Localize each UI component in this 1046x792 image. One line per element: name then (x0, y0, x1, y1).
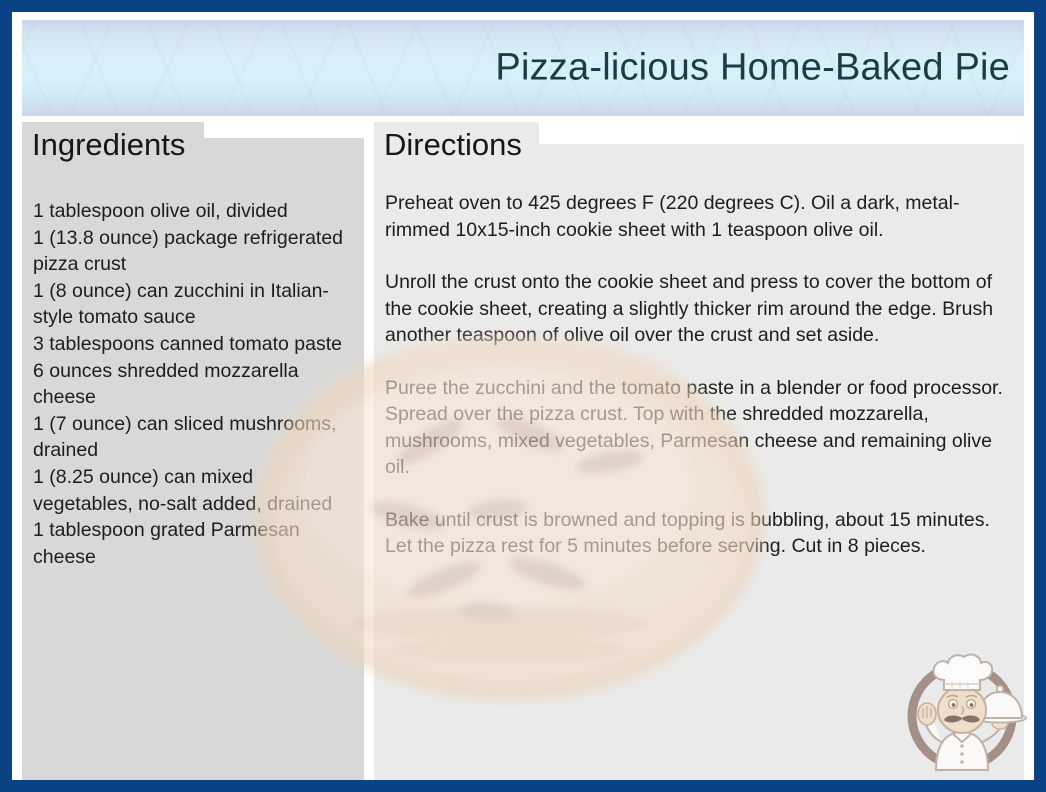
list-item: 1 (8 ounce) can zucchini in Italian-styl… (33, 278, 350, 331)
title-banner: Pizza-licious Home-Baked Pie (22, 20, 1024, 116)
ingredients-header-tab: Ingredients (22, 122, 203, 166)
directions-panel: Directions Preheat oven to 425 degrees F… (374, 122, 1024, 780)
direction-step: Unroll the crust onto the cookie sheet a… (385, 269, 1010, 349)
direction-step: Preheat oven to 425 degrees F (220 degre… (385, 190, 1010, 243)
directions-header-tab: Directions (374, 122, 540, 166)
content-panels: Ingredients 1 tablespoon olive oil, divi… (22, 122, 1024, 780)
slide-content-area: Pizza-licious Home-Baked Pie Ingredients… (12, 12, 1034, 780)
list-item: 1 tablespoon olive oil, divided (33, 198, 350, 225)
recipe-slide: Pizza-licious Home-Baked Pie Ingredients… (0, 0, 1046, 792)
list-item: 1 tablespoon grated Parmesan cheese (33, 517, 350, 570)
list-item: 1 (7 ounce) can sliced mushrooms, draine… (33, 411, 350, 464)
ingredients-tab-notch (204, 122, 364, 138)
direction-step: Puree the zucchini and the tomato paste … (385, 375, 1010, 481)
directions-steps: Preheat oven to 425 degrees F (220 degre… (374, 190, 1024, 560)
page-title: Pizza-licious Home-Baked Pie (495, 47, 1010, 90)
list-item: 1 (13.8 ounce) package refrigerated pizz… (33, 225, 350, 278)
ingredients-heading: Ingredients (32, 129, 185, 160)
directions-heading: Directions (384, 129, 522, 160)
direction-step: Bake until crust is browned and topping … (385, 507, 1010, 560)
list-item: 6 ounces shredded mozzarella cheese (33, 358, 350, 411)
list-item: 1 (8.25 ounce) can mixed vegetables, no-… (33, 464, 350, 517)
list-item: 3 tablespoons canned tomato paste (33, 331, 350, 358)
directions-tab-notch (539, 122, 1024, 144)
ingredients-panel: Ingredients 1 tablespoon olive oil, divi… (22, 122, 364, 780)
ingredients-list: 1 tablespoon olive oil, divided 1 (13.8 … (22, 198, 364, 570)
